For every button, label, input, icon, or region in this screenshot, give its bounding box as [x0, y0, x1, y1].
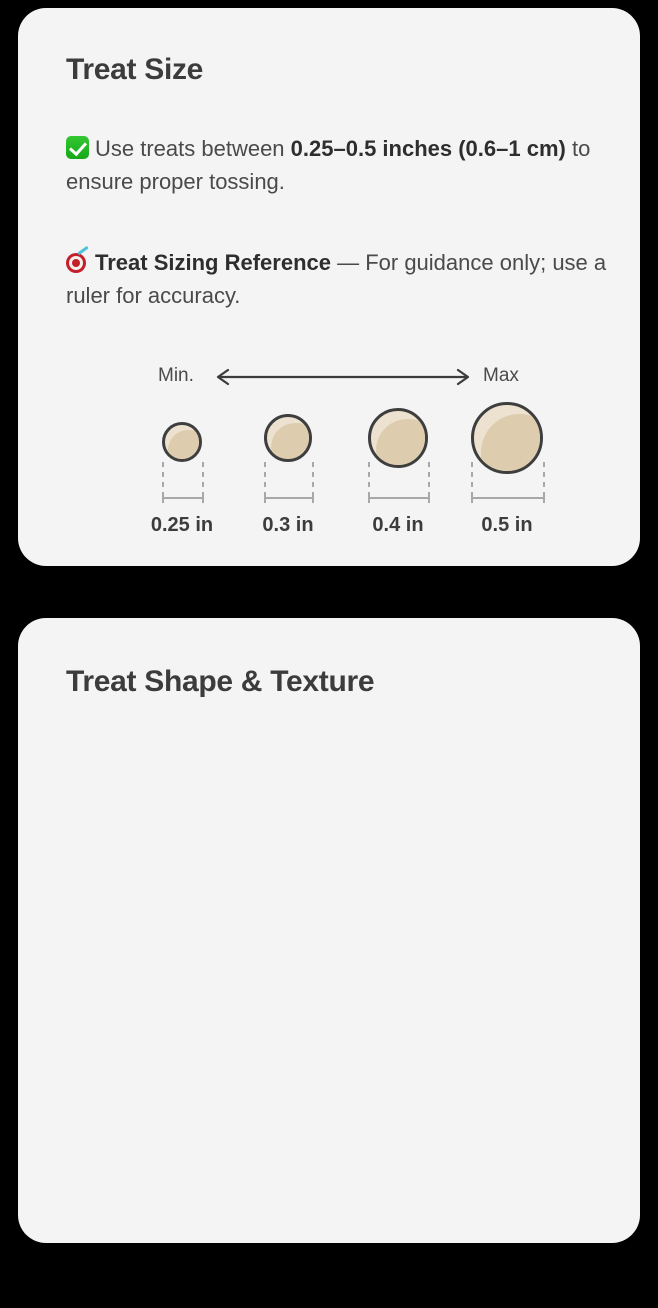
- treat-dimension-label: 0.4 in: [343, 514, 453, 537]
- dimension-lines: [127, 460, 567, 508]
- treat-shape-title: Treat Shape & Texture: [66, 665, 374, 699]
- treat-sample-circle: [162, 422, 202, 462]
- treat-size-scale-diagram: Min. Max: [18, 8, 640, 566]
- treat-dimension-label: 0.5 in: [452, 514, 562, 537]
- double-headed-arrow-icon: [210, 366, 476, 388]
- treat-size-card: Treat Size Use treats between 0.25–0.5 i…: [18, 8, 640, 566]
- treat-dimension-label: 0.3 in: [233, 514, 343, 537]
- treat-dimension-label: 0.25 in: [127, 514, 237, 537]
- scale-max-label: Max: [483, 365, 519, 387]
- treat-shape-texture-card: Treat Shape & Texture Best with round, d…: [18, 618, 640, 1243]
- page-root: Treat Size Use treats between 0.25–0.5 i…: [0, 0, 658, 1308]
- scale-min-label: Min.: [158, 365, 194, 387]
- treat-sample-circle: [264, 414, 312, 462]
- treat-sample-circle: [368, 408, 428, 468]
